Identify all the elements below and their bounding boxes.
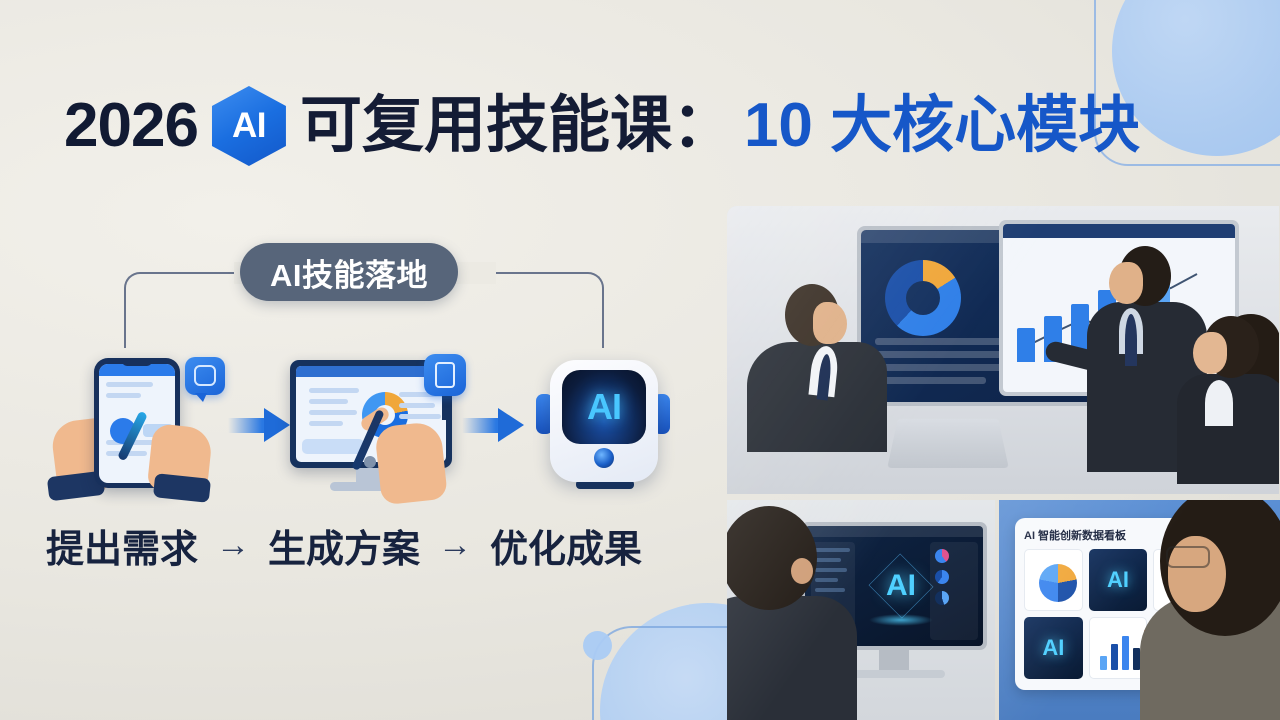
viewer-body: [727, 596, 857, 720]
board-card-pie: [1024, 549, 1083, 611]
poster-canvas: 2026 AI 可复用技能课： 10 大核心模块 AI技能落地: [0, 0, 1280, 720]
board-card-ai-2: AI: [1024, 617, 1083, 679]
step-2-caption: 生成方案: [268, 518, 420, 573]
glasses-icon: [1166, 546, 1210, 568]
pointing-hand-shape: [374, 421, 448, 505]
pill-badge: AI技能落地: [240, 243, 458, 301]
robot-lens-icon: [594, 448, 614, 468]
step-2-illustration: [278, 352, 478, 507]
pill-label: AI技能落地: [270, 250, 428, 295]
board-pie-chart: [1039, 564, 1077, 602]
page-title: 2026 AI 可复用技能课： 10 大核心模块: [64, 86, 1140, 166]
man-at-imac-ai-hologram-photo: AI: [727, 500, 995, 720]
ai-badge-icon: AI: [212, 86, 286, 166]
caption-arrow-1-icon: →: [216, 526, 250, 565]
title-dark-part: 可复用技能课：: [300, 95, 734, 157]
ai-badge-label: AI: [232, 106, 266, 146]
decor-dot-bottom-left: [583, 631, 612, 660]
board-card-bars: [1089, 617, 1148, 679]
laptop-icon: [887, 419, 1009, 468]
right-cuff-shape: [153, 473, 211, 503]
board-ai-label-2: AI: [1042, 635, 1064, 661]
title-year: 2026: [64, 95, 198, 157]
step-3-illustration: AI: [528, 352, 678, 507]
caption-arrow-2-icon: →: [438, 526, 472, 565]
tablet-tile-icon: [424, 354, 466, 396]
step-1-illustration: [42, 352, 232, 507]
chat-bubble-icon: [185, 357, 225, 395]
office-meeting-dashboard-photo: [727, 206, 1279, 494]
title-blue-part: 10 大核心模块: [744, 95, 1140, 157]
dashboard-donut-chart: [885, 260, 961, 336]
robot-face-label: AI: [587, 386, 621, 428]
ai-hologram-icon: AI: [863, 550, 939, 622]
hologram-ai-label: AI: [863, 550, 939, 622]
board-card-ai-1: AI: [1089, 549, 1148, 611]
arrow-step2-to-step3-icon: [462, 408, 524, 442]
steps-caption: 提出需求 → 生成方案 → 优化成果: [46, 518, 642, 573]
board-ai-label-1: AI: [1107, 567, 1129, 593]
ai-robot-icon: AI: [550, 360, 658, 482]
step-3-caption: 优化成果: [490, 518, 642, 573]
ai-presentation-board-photo: AI 智能创新数据看板 AI AI: [999, 500, 1280, 720]
step-1-caption: 提出需求: [46, 518, 198, 573]
